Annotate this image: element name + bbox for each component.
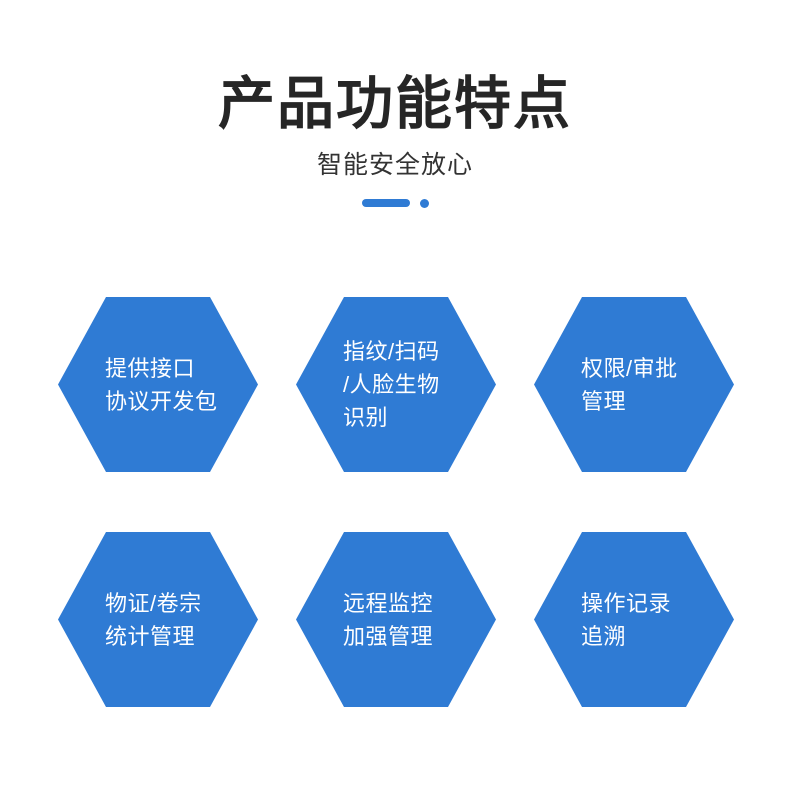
feature-hexagon-remote-monitor[interactable]: 远程监控 加强管理 bbox=[296, 532, 496, 707]
feature-hexagon-api-sdk[interactable]: 提供接口 协议开发包 bbox=[58, 297, 258, 472]
feature-hexagon-biometric[interactable]: 指纹/扫码 /人脸生物 识别 bbox=[296, 297, 496, 472]
feature-hexagon-grid: 提供接口 协议开发包 指纹/扫码 /人脸生物 识别 权限/审批 管理 物证/卷宗… bbox=[58, 297, 734, 707]
page-title: 产品功能特点 bbox=[0, 68, 790, 140]
title-divider bbox=[0, 196, 790, 210]
feature-label: 权限/审批 管理 bbox=[534, 352, 734, 418]
page-subtitle: 智能安全放心 bbox=[0, 148, 790, 182]
feature-hexagon-operation-log[interactable]: 操作记录 追溯 bbox=[534, 532, 734, 707]
feature-hexagon-permission-approval[interactable]: 权限/审批 管理 bbox=[534, 297, 734, 472]
feature-label: 物证/卷宗 统计管理 bbox=[58, 587, 258, 653]
divider-dot-icon bbox=[420, 199, 429, 208]
feature-label: 操作记录 追溯 bbox=[534, 587, 734, 653]
feature-highlight-page: 产品功能特点 智能安全放心 提供接口 协议开发包 指纹/扫码 /人脸生物 识别 … bbox=[0, 0, 790, 790]
divider-bar bbox=[362, 199, 410, 207]
feature-label: 远程监控 加强管理 bbox=[296, 587, 496, 653]
feature-label: 指纹/扫码 /人脸生物 识别 bbox=[296, 335, 496, 434]
feature-hexagon-evidence-archive[interactable]: 物证/卷宗 统计管理 bbox=[58, 532, 258, 707]
feature-label: 提供接口 协议开发包 bbox=[58, 352, 258, 418]
